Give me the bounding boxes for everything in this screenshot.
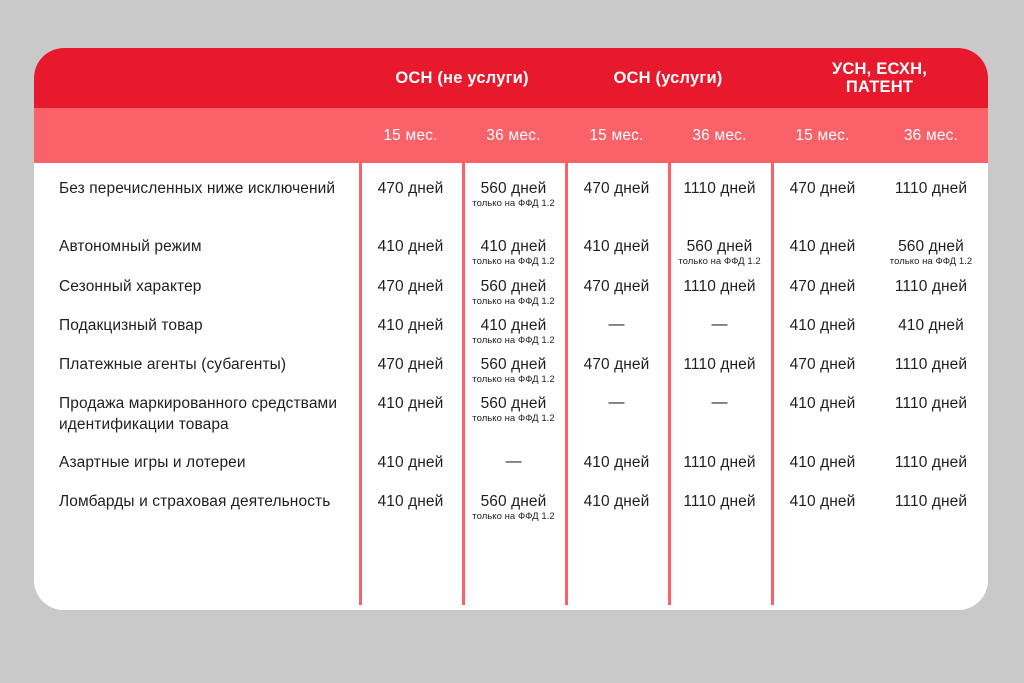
- cell-value: 410 дней: [378, 395, 444, 412]
- cell-dash: —: [712, 316, 728, 333]
- table-row: Без перечисленных ниже исключений470 дне…: [34, 179, 988, 219]
- cell-dash: —: [506, 453, 522, 470]
- row-label: Азартные игры и лотереи: [34, 453, 359, 474]
- cell-value: 410 дней: [790, 317, 856, 334]
- table-group-header-row: ОСН (не услуги) ОСН (услуги) УСН, ЕСХН, …: [34, 48, 988, 108]
- cell-value: 1110 дней: [895, 395, 967, 412]
- subheader-spacer: [34, 108, 359, 163]
- cell-note: только на ФФД 1.2: [466, 296, 561, 308]
- table-cell: 410 дней: [565, 237, 668, 256]
- table-cell: 410 дней: [874, 316, 988, 335]
- table-cell: 410 дней: [359, 394, 462, 413]
- table-cell: 410 днейтолько на ФФД 1.2: [462, 316, 565, 348]
- cell-value: 410 дней: [898, 317, 964, 334]
- table-body: Без перечисленных ниже исключений470 дне…: [34, 163, 988, 610]
- cell-value: 410 дней: [790, 395, 856, 412]
- table-cell: 410 дней: [565, 492, 668, 511]
- table-cell: 1110 дней: [668, 492, 771, 511]
- row-label: Сезонный характер: [34, 277, 359, 298]
- table-cell: 1110 дней: [874, 277, 988, 296]
- cell-value: 560 дней: [481, 278, 547, 295]
- cell-value: 560 дней: [481, 395, 547, 412]
- column-header-1: 15 мес.: [359, 108, 462, 163]
- table-cell: 410 днейтолько на ФФД 1.2: [462, 237, 565, 269]
- table-cell: 1110 дней: [668, 179, 771, 198]
- table-cell: 470 дней: [359, 179, 462, 198]
- table-row: Автономный режим410 дней410 днейтолько н…: [34, 237, 988, 277]
- cell-value: 410 дней: [584, 238, 650, 255]
- cell-value: 470 дней: [378, 180, 444, 197]
- table-cell: 1110 дней: [668, 453, 771, 472]
- cell-value: 1110 дней: [895, 454, 967, 471]
- row-label: Без перечисленных ниже исключений: [34, 179, 359, 200]
- table-cell: 410 дней: [771, 492, 874, 511]
- table-cell: 470 дней: [565, 277, 668, 296]
- row-label: Ломбарды и страховая деятельность: [34, 492, 359, 513]
- cell-value: 410 дней: [378, 238, 444, 255]
- row-label: Продажа маркированного средствами иденти…: [34, 394, 359, 436]
- cell-value: 1110 дней: [895, 278, 967, 295]
- table-cell: 410 дней: [771, 453, 874, 472]
- cell-value: 560 дней: [898, 238, 964, 255]
- cell-value: 1110 дней: [683, 493, 755, 510]
- cell-value: 410 дней: [790, 238, 856, 255]
- cell-dash: —: [712, 394, 728, 411]
- cell-value: 470 дней: [790, 180, 856, 197]
- cell-value: 1110 дней: [895, 180, 967, 197]
- group-header-spacer: [34, 48, 359, 108]
- group-header-osn-goods: ОСН (не услуги): [359, 48, 565, 108]
- table-cell: 560 днейтолько на ФФД 1.2: [668, 237, 771, 269]
- cell-note: только на ФФД 1.2: [878, 256, 984, 268]
- cell-value: 470 дней: [790, 278, 856, 295]
- cell-value: 1110 дней: [895, 493, 967, 510]
- table-subheader-row: 15 мес. 36 мес. 15 мес. 36 мес. 15 мес. …: [34, 108, 988, 163]
- table-cell: 560 днейтолько на ФФД 1.2: [462, 179, 565, 211]
- row-label: Автономный режим: [34, 237, 359, 258]
- cell-value: 470 дней: [378, 278, 444, 295]
- table-cell: 560 днейтолько на ФФД 1.2: [874, 237, 988, 269]
- table-cell: —: [565, 316, 668, 334]
- table-cell: 410 дней: [771, 237, 874, 256]
- table-cell: 470 дней: [565, 179, 668, 198]
- cell-note: только на ФФД 1.2: [466, 511, 561, 523]
- table-cell: 470 дней: [359, 277, 462, 296]
- table-cell: 410 дней: [565, 453, 668, 472]
- table-row: Ломбарды и страховая деятельность410 дне…: [34, 492, 988, 532]
- cell-value: 1110 дней: [683, 278, 755, 295]
- cell-value: 1110 дней: [683, 356, 755, 373]
- cell-note: только на ФФД 1.2: [466, 374, 561, 386]
- table-cell: 1110 дней: [874, 179, 988, 198]
- cell-value: 410 дней: [584, 454, 650, 471]
- cell-note: только на ФФД 1.2: [672, 256, 767, 268]
- cell-value: 410 дней: [790, 454, 856, 471]
- table-cell: 1110 дней: [874, 453, 988, 472]
- table-cell: 1110 дней: [874, 394, 988, 413]
- table-cell: 560 днейтолько на ФФД 1.2: [462, 492, 565, 524]
- table-cell: 410 дней: [359, 492, 462, 511]
- table-cell: 470 дней: [771, 277, 874, 296]
- table-cell: 470 дней: [771, 179, 874, 198]
- cell-value: 470 дней: [584, 180, 650, 197]
- table-cell: 1110 дней: [874, 492, 988, 511]
- cell-note: только на ФФД 1.2: [466, 413, 561, 425]
- table-cell: 560 днейтолько на ФФД 1.2: [462, 355, 565, 387]
- cell-value: 470 дней: [378, 356, 444, 373]
- cell-value: 410 дней: [790, 493, 856, 510]
- cell-value: 470 дней: [584, 356, 650, 373]
- table-cell: 470 дней: [771, 355, 874, 374]
- cell-value: 560 дней: [481, 356, 547, 373]
- table-cell: 410 дней: [771, 316, 874, 335]
- cell-value: 1110 дней: [895, 356, 967, 373]
- cell-value: 410 дней: [584, 493, 650, 510]
- cell-note: только на ФФД 1.2: [466, 256, 561, 268]
- column-header-3: 15 мес.: [565, 108, 668, 163]
- table-cell: 470 дней: [359, 355, 462, 374]
- cell-value: 410 дней: [378, 493, 444, 510]
- group-header-usn-eshn-patent: УСН, ЕСХН, ПАТЕНТ: [771, 48, 988, 108]
- table-row: Продажа маркированного средствами иденти…: [34, 394, 988, 436]
- cell-value: 560 дней: [481, 180, 547, 197]
- column-header-5: 15 мес.: [771, 108, 874, 163]
- cell-value: 560 дней: [481, 493, 547, 510]
- table-row: Азартные игры и лотереи410 дней—410 дней…: [34, 453, 988, 493]
- cell-note: только на ФФД 1.2: [466, 335, 561, 347]
- table-cell: —: [668, 316, 771, 334]
- table-cell: —: [462, 453, 565, 471]
- table-cell: 1110 дней: [668, 355, 771, 374]
- table-cell: 560 днейтолько на ФФД 1.2: [462, 277, 565, 309]
- cell-value: 410 дней: [378, 454, 444, 471]
- cell-value: 1110 дней: [683, 180, 755, 197]
- column-header-6: 36 мес.: [874, 108, 988, 163]
- cell-value: 1110 дней: [683, 454, 755, 471]
- table-row: Подакцизный товар410 дней410 днейтолько …: [34, 316, 988, 356]
- table-cell: —: [668, 394, 771, 412]
- column-header-2: 36 мес.: [462, 108, 565, 163]
- table-row: Платежные агенты (субагенты)470 дней560 …: [34, 355, 988, 395]
- cell-value: 410 дней: [378, 317, 444, 334]
- comparison-table-card: ОСН (не услуги) ОСН (услуги) УСН, ЕСХН, …: [34, 48, 988, 610]
- cell-value: 560 дней: [687, 238, 753, 255]
- cell-value: 470 дней: [584, 278, 650, 295]
- table-cell: 1110 дней: [874, 355, 988, 374]
- column-header-4: 36 мес.: [668, 108, 771, 163]
- cell-value: 410 дней: [481, 238, 547, 255]
- cell-value: 410 дней: [481, 317, 547, 334]
- cell-note: только на ФФД 1.2: [466, 198, 561, 210]
- table-cell: 1110 дней: [668, 277, 771, 296]
- table-cell: —: [565, 394, 668, 412]
- row-label: Подакцизный товар: [34, 316, 359, 337]
- cell-dash: —: [609, 394, 625, 411]
- table-cell: 560 днейтолько на ФФД 1.2: [462, 394, 565, 426]
- table-cell: 410 дней: [359, 237, 462, 256]
- table-row: Сезонный характер470 дней560 днейтолько …: [34, 277, 988, 317]
- cell-value: 470 дней: [790, 356, 856, 373]
- table-cell: 470 дней: [565, 355, 668, 374]
- table-rows: Без перечисленных ниже исключений470 дне…: [34, 163, 988, 179]
- group-header-osn-services: ОСН (услуги): [565, 48, 771, 108]
- table-cell: 410 дней: [359, 316, 462, 335]
- table-cell: 410 дней: [771, 394, 874, 413]
- cell-dash: —: [609, 316, 625, 333]
- table-cell: 410 дней: [359, 453, 462, 472]
- row-label: Платежные агенты (субагенты): [34, 355, 359, 376]
